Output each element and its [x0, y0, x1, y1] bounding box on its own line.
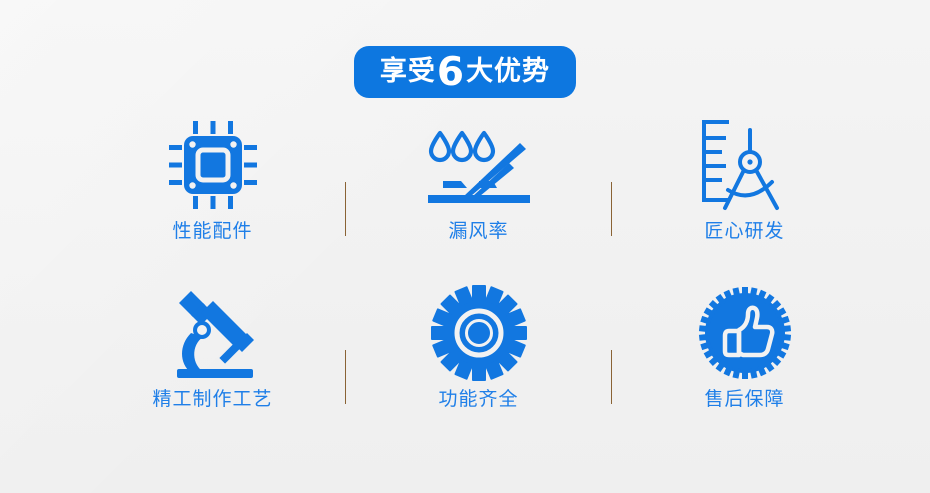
feature-label: 匠心研发: [704, 222, 784, 241]
gear-icon: [429, 278, 529, 388]
features-row-2: 精工制作工艺: [0, 278, 930, 446]
feature-item-performance-parts: 性能配件: [80, 110, 345, 241]
feature-item-rnd: 匠心研发: [612, 110, 877, 241]
feature-item-after-sales: 售后保障: [612, 278, 877, 409]
feature-item-craftsmanship: 精工制作工艺: [80, 278, 345, 409]
thumbs-up-badge-icon: [695, 278, 795, 388]
water-drops-surface-icon: [423, 110, 535, 220]
banner-prefix-text: 享受: [380, 58, 436, 85]
feature-highlights-page: 享受6大优势: [0, 0, 930, 493]
feature-label: 售后保障: [704, 390, 784, 409]
banner-number-text: 6: [436, 53, 466, 92]
feature-item-air-leakage: 漏风率: [346, 110, 611, 241]
feature-item-full-function: 功能齐全: [346, 278, 611, 409]
ruler-compass-icon: [692, 110, 798, 220]
features-grid: 性能配件: [0, 110, 930, 446]
banner-container: 享受6大优势: [0, 46, 930, 98]
cpu-chip-icon: [161, 110, 265, 220]
features-row-1: 性能配件: [0, 110, 930, 278]
advantages-banner: 享受6大优势: [354, 46, 576, 98]
feature-label: 性能配件: [172, 222, 252, 241]
banner-suffix-text: 大优势: [466, 58, 550, 85]
feature-label: 漏风率: [448, 222, 508, 241]
feature-label: 功能齐全: [438, 390, 518, 409]
feature-label: 精工制作工艺: [152, 390, 272, 409]
microscope-icon: [161, 278, 265, 388]
